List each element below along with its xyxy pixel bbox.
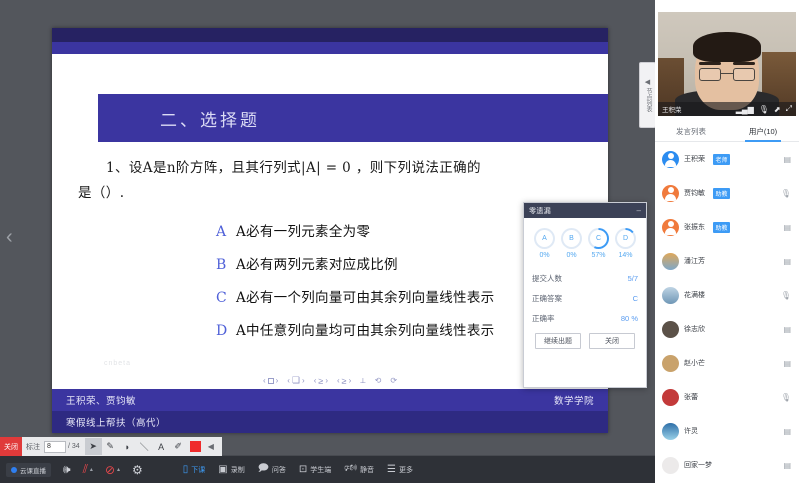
poll-choice-a: A 0% [534,228,555,259]
poll-ring-pct: 57% [591,252,605,259]
poll-ring-pct: 14% [618,252,632,259]
slide-footer-course: 寒假线上帮扶（高代） [66,415,166,429]
poll-stat-submitted: 提交人数 5/7 [532,273,638,284]
poll-popup-header: 零遗漏 – [524,203,646,218]
prev-slide-arrow[interactable]: ‹ [6,226,13,249]
poll-ring-label: C [596,235,601,242]
list-icon[interactable]: ▤ [783,427,791,436]
camera-icon-group: ▂▄▆ 🎙 ⬈ ⤢ [736,104,792,114]
camera-person-brow-left [699,62,721,65]
user-name: 贾钧敏 [684,188,705,198]
list-item[interactable]: 潘江芳 ▤ [655,244,799,278]
page-number-input[interactable]: 8 [44,441,66,453]
poll-ring-b: B [561,228,582,249]
poll-results-popup[interactable]: 零遗漏 – A 0% B [523,202,647,388]
avatar [662,355,679,372]
minimize-icon[interactable]: – [637,208,641,214]
camera-name-label: 王积荣 [662,104,682,114]
slide-footer-authors: 王积荣、贾钧敏 [66,393,136,407]
list-icon[interactable]: ▤ [783,257,791,266]
poll-ring-c: C [588,228,609,249]
line-tool[interactable]: ＼ [136,438,153,455]
option-letter: C [216,290,228,306]
user-name: 王积荣 [684,154,705,164]
poll-ring-label: B [569,235,574,242]
user-name: 回家一梦 [684,460,712,470]
avatar [662,253,679,270]
annotation-doc-label: 标注 [22,442,44,452]
poll-stat-label: 提交人数 [532,273,562,284]
list-icon[interactable]: ▤ [783,155,791,164]
poll-ring-pct: 0% [539,252,549,259]
avatar [662,423,679,440]
slide-footer-course-bar: 寒假线上帮扶（高代） [52,411,608,433]
bottom-toolbar-actions: ▯ 下课 ▣ 录制 🗩 问答 ⊡ 学生端 🕬 静音 ☰ 更多 [183,461,413,478]
speaker-icon: 🕪 [63,462,71,477]
student-icon: ⊡ [299,464,307,475]
shape-tool[interactable]: ◗ [119,438,136,455]
user-name: 许灵 [684,426,698,436]
color-swatch[interactable] [187,438,204,455]
poll-ring-pct: 0% [566,252,576,259]
eraser-tool[interactable]: ✐ [170,438,187,455]
node-list-tab[interactable]: ◀ 节点列表 [639,62,656,128]
list-item[interactable]: 回家一梦 ▤ [655,448,799,482]
poll-choice-d: D 14% [615,228,636,259]
chevron-up-icon[interactable]: ▴ [117,466,120,473]
poll-actions: 继续出题 关闭 [532,333,638,349]
poll-stat-correct-answer: 正确答案 C [532,293,638,304]
student-view-button[interactable]: ⊡ 学生端 [299,464,331,475]
annotation-close-button[interactable]: 关闭 [0,437,22,456]
list-item[interactable]: 贾钧敏 助教 🎙 [655,176,799,210]
list-item[interactable]: 许灵 ▤ [655,414,799,448]
gear-icon: ⚙ [132,463,143,477]
student-view-label: 学生端 [310,465,331,475]
poll-stat-label: 正确答案 [532,293,562,304]
camera-person-brow-right [733,62,755,65]
camera-person-glasses [699,68,755,81]
record-button[interactable]: ▣ 录制 [218,464,244,475]
slide-section-title: 二、选择题 [98,106,260,131]
avatar [662,287,679,304]
poll-stat-value: 80 % [621,314,638,323]
app-root: ‹ 二、选择题 1、设A是n阶方阵，且其行列式|A| = 0 ，则下列说法正确的… [0,0,799,483]
page-total-label: / 34 [66,443,85,450]
option-list: A A必有一列元素全为零 B A必有两列元素对应成比例 C A必有一个列向量可由… [78,220,582,339]
poll-stat-accuracy: 正确率 80 % [532,313,638,324]
zoom-out-button[interactable]: ⟲ [375,376,382,385]
poll-stat-value: C [633,294,638,303]
user-name: 张振东 [684,222,705,232]
more-icon: ☰ [387,464,396,475]
slide-footer-authors-bar: 王积荣、贾钧敏 数学学院 [52,389,608,411]
cursor-tool[interactable]: ➤ [85,438,102,455]
node-list-tab-label: 节点列表 [644,88,651,112]
list-item[interactable]: 王积荣 老师 ▤ [655,142,799,176]
more-button[interactable]: ☰ 更多 [387,464,413,475]
mic-icon[interactable]: 🎙 [759,105,769,114]
mic-icon[interactable]: 🎙 [781,393,791,402]
slide-footer-dept: 数学学院 [554,393,594,407]
list-item[interactable]: 花满楼 🎙 [655,278,799,312]
tab-speech-list[interactable]: 发言列表 [655,122,727,141]
mic-icon[interactable]: 🎙 [781,189,791,198]
avatar [662,219,679,236]
avatar [662,389,679,406]
poll-choice-rings: A 0% B 0% C [532,228,638,259]
poll-popup-body: A 0% B 0% C [524,218,646,357]
option-text: A必有两列元素对应成比例 [236,253,398,273]
record-icon: ▣ [218,464,227,475]
camera-control[interactable]: ⊘ ▴ [105,463,120,477]
camera-overlay-bar: 王积荣 ▂▄▆ 🎙 ⬈ ⤢ [658,102,796,116]
mute-all-button[interactable]: 🕬 静音 [344,461,374,478]
live-status-badge: 云课直播 [6,463,51,477]
poll-stats: 提交人数 5/7 正确答案 C 正确率 80 % [532,273,638,324]
more-label: 更多 [399,465,413,475]
popout-icon[interactable]: ⬈ [774,105,781,114]
annotation-toolbar: 关闭 标注 8 / 34 ➤ ✎ ◗ ＼ A ✐ ◀ [0,437,222,456]
qa-label: 问答 [272,465,286,475]
list-item[interactable]: 张振东 助教 ▤ [655,210,799,244]
end-class-button[interactable]: ▯ 下课 [183,464,206,475]
poll-stat-value: 5/7 [628,274,638,283]
avatar [662,457,679,474]
slide-section-title-bar: 二、选择题 [98,94,608,142]
signal-icon[interactable]: ▂▄▆ [736,105,754,114]
avatar [662,321,679,338]
qa-icon: 🗩 [258,461,269,478]
text-tool[interactable]: A [153,438,170,455]
user-name: 徐志欣 [684,324,705,334]
live-status-label: 云课直播 [20,465,46,475]
continue-question-button[interactable]: 继续出题 [535,333,581,349]
avatar [662,185,679,202]
nav-group-2[interactable]: ‹❏› [287,375,304,386]
avatar [662,151,679,168]
poll-stat-label: 正确率 [532,313,555,324]
role-badge: 助教 [713,188,730,199]
end-class-label: 下课 [191,465,205,475]
nav-group-5[interactable]: ⟂ [360,376,365,386]
option-text: A中任意列向量均可由其余列向量线性表示 [236,319,494,339]
camera-person-hair [693,32,761,62]
list-item[interactable]: 张蕾 🎙 [655,380,799,414]
poll-ring-label: D [623,235,628,242]
record-label: 录制 [231,465,245,475]
poll-choice-b: B 0% [561,228,582,259]
option-letter: A [216,224,228,240]
poll-choice-c: C 57% [588,228,609,259]
slide-top-band [52,28,608,42]
zoom-in-button[interactable]: ⟳ [390,376,397,385]
mic-off-icon: ⫽ [83,462,88,477]
qa-button[interactable]: 🗩 问答 [258,461,286,478]
watermark: cnbeta [104,360,131,367]
collapse-toolbar-icon[interactable]: ◀ [208,442,214,451]
user-name: 赵小芒 [684,358,705,368]
mute-icon: 🕬 [344,461,357,478]
nav-group-1[interactable]: ‹› [263,376,278,385]
mute-all-label: 静音 [360,465,374,475]
question-text: 1、设A是n阶方阵，且其行列式|A| = 0 ，则下列说法正确的 [78,156,582,181]
list-icon[interactable]: ▤ [783,223,791,232]
chevron-left-icon: ◀ [645,78,650,86]
settings-control[interactable]: ⚙ [132,463,143,477]
chevron-up-icon[interactable]: ▴ [90,466,93,473]
camera-off-icon: ⊘ [105,463,115,477]
user-name: 花满楼 [684,290,705,300]
option-text: A必有一列元素全为零 [236,220,370,240]
list-item[interactable]: 赵小芒 ▤ [655,346,799,380]
list-item[interactable]: 徐志欣 ▤ [655,312,799,346]
pen-tool[interactable]: ✎ [102,438,119,455]
presentation-stage: ‹ 二、选择题 1、设A是n阶方阵，且其行列式|A| = 0 ，则下列说法正确的… [0,0,655,455]
user-name: 张蕾 [684,392,698,402]
option-text: A必有一个列向量可由其余列向量线性表示 [236,286,494,306]
list-icon[interactable]: ▤ [783,461,791,470]
door-icon: ▯ [183,464,189,475]
list-icon[interactable]: ▤ [783,359,791,368]
mic-icon[interactable]: 🎙 [781,291,791,300]
slide-top-band-secondary [52,42,608,54]
poll-ring-label: A [542,235,547,242]
option-letter: B [216,257,228,273]
user-list[interactable]: 王积荣 老师 ▤ 贾钧敏 助教 🎙 张振东 助教 ▤ 潘江芳 ▤ 花满楼 🎙 [655,142,799,483]
option-letter: D [216,323,228,339]
role-badge: 助教 [713,222,730,233]
role-badge: 老师 [713,154,730,165]
speaker-control[interactable]: 🕪 [63,462,71,477]
bottom-toolbar: 云课直播 🕪 ⫽ ▴ ⊘ ▴ ⚙ ▯ 下课 ▣ 录制 🗩 [0,456,655,483]
list-icon[interactable]: ▤ [783,325,791,334]
nav-group-4[interactable]: ‹≥› [337,376,351,386]
live-dot-icon [11,467,17,473]
expand-icon[interactable]: ⤢ [786,104,792,114]
close-poll-button[interactable]: 关闭 [589,333,635,349]
poll-ring-d: D [615,228,636,249]
poll-ring-a: A [534,228,555,249]
panel-tabs: 发言列表 用户(10) [655,122,799,142]
teacher-camera-view[interactable]: 王积荣 ▂▄▆ 🎙 ⬈ ⤢ [658,12,796,116]
question-text-cont: 是（）. [78,181,582,206]
nav-group-3[interactable]: ‹≥› [314,376,328,386]
microphone-control[interactable]: ⫽ ▴ [83,462,93,477]
user-name: 潘江芳 [684,256,705,266]
poll-popup-title: 零遗漏 [529,206,551,216]
tab-users[interactable]: 用户(10) [727,122,799,141]
